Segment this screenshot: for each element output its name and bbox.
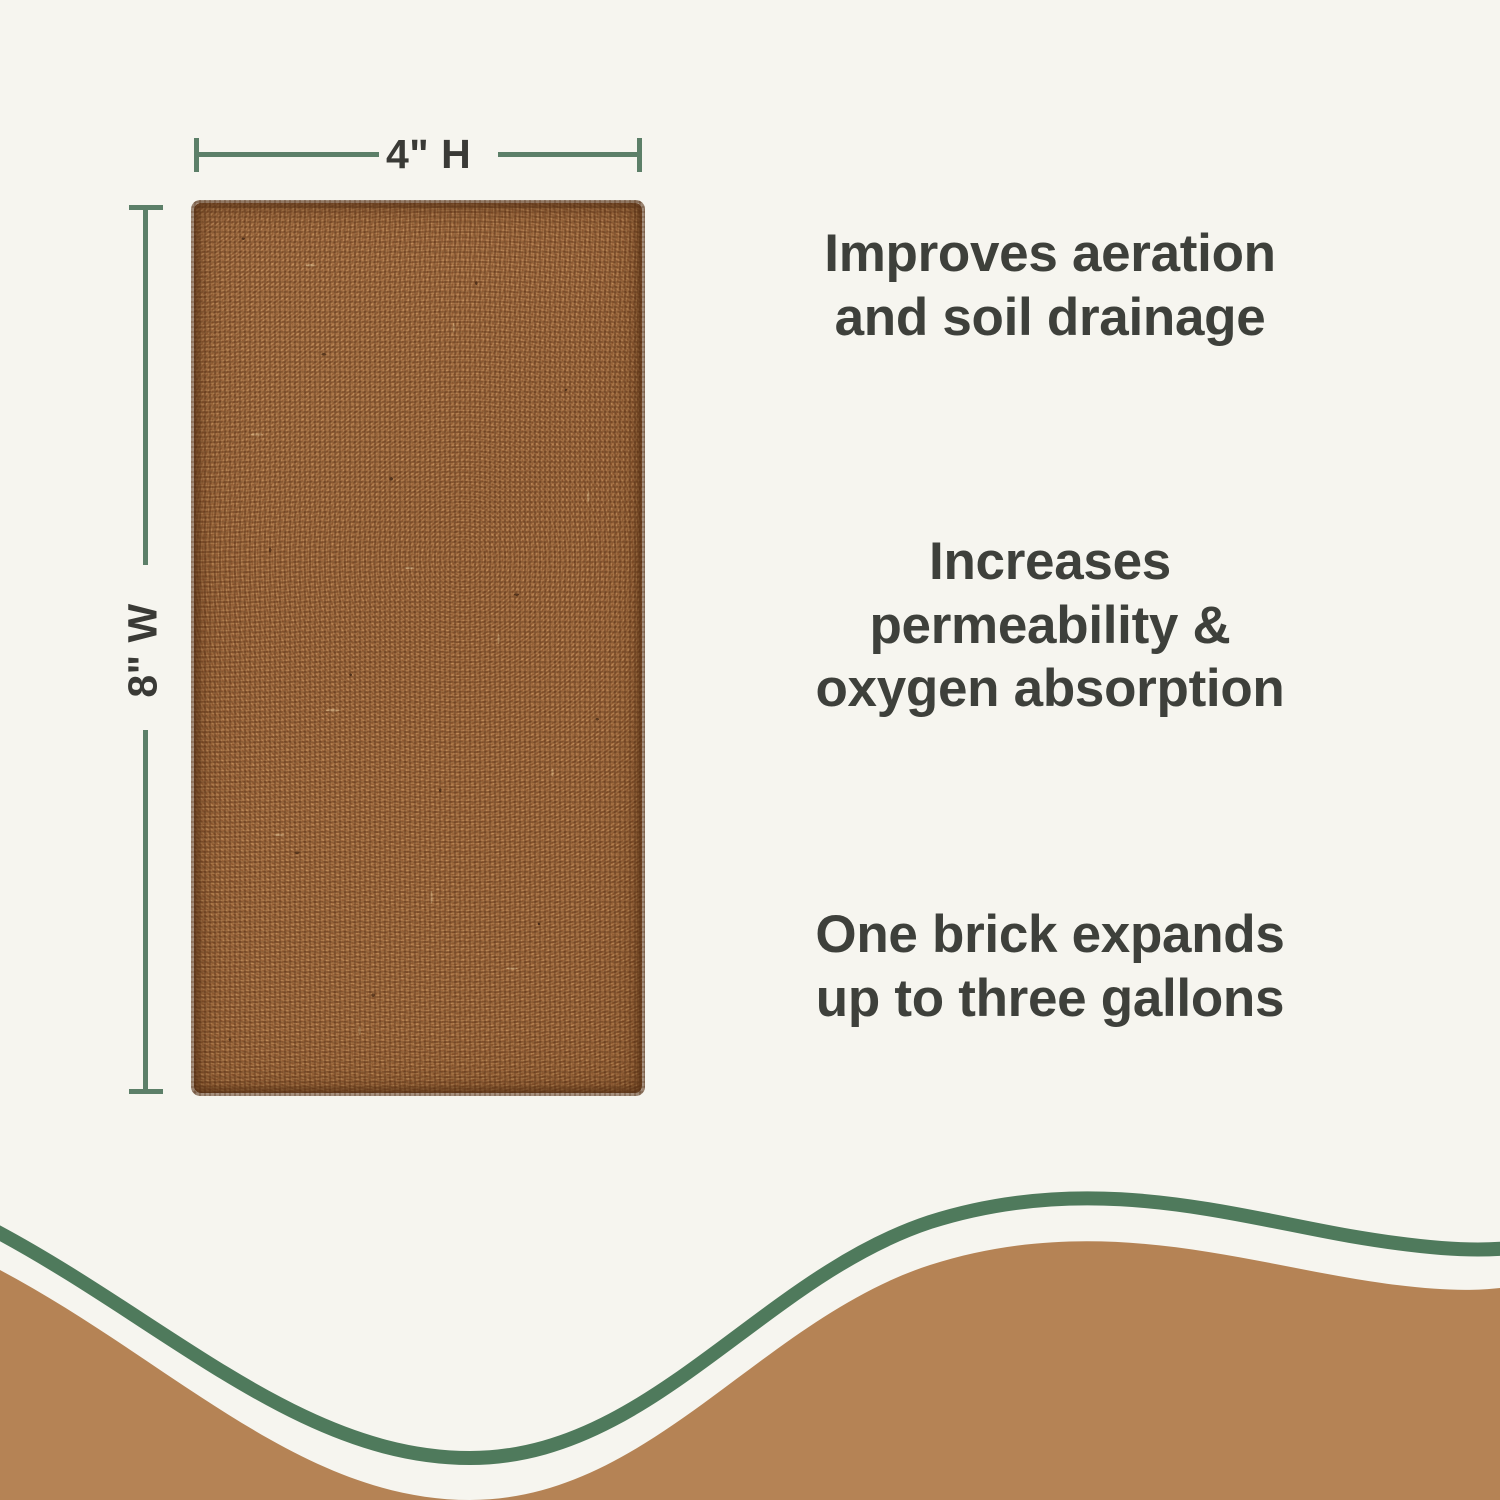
bottom-wave-decoration bbox=[0, 1170, 1500, 1500]
feature-permeability-line-3: oxygen absorption bbox=[700, 657, 1400, 721]
infographic-canvas: 4" H 8" W Improves aeration and soil dra… bbox=[0, 0, 1500, 1500]
side-dimension-line-top bbox=[143, 205, 148, 565]
feature-expansion-line-1: One brick expands bbox=[700, 903, 1400, 967]
top-dimension-line-left bbox=[194, 152, 379, 157]
side-dimension-label: 8" W bbox=[120, 596, 167, 706]
feature-permeability-line-2: permeability & bbox=[700, 594, 1400, 658]
feature-permeability-line-1: Increases bbox=[700, 530, 1400, 594]
top-dimension-line-right bbox=[498, 152, 642, 157]
feature-permeability: Increases permeability & oxygen absorpti… bbox=[700, 530, 1400, 721]
feature-expansion-line-2: up to three gallons bbox=[700, 967, 1400, 1031]
feature-aeration-line-2: and soil drainage bbox=[700, 286, 1400, 350]
coir-brick-texture bbox=[194, 203, 642, 1093]
top-dimension-label: 4" H bbox=[386, 131, 471, 178]
coir-brick-image bbox=[194, 203, 642, 1093]
feature-expansion: One brick expands up to three gallons bbox=[700, 903, 1400, 1030]
feature-aeration-line-1: Improves aeration bbox=[700, 222, 1400, 286]
top-dimension-cap-right bbox=[637, 138, 642, 172]
side-dimension-line-bottom bbox=[143, 730, 148, 1092]
feature-aeration: Improves aeration and soil drainage bbox=[700, 222, 1400, 349]
side-dimension-cap-bottom bbox=[129, 1089, 163, 1094]
